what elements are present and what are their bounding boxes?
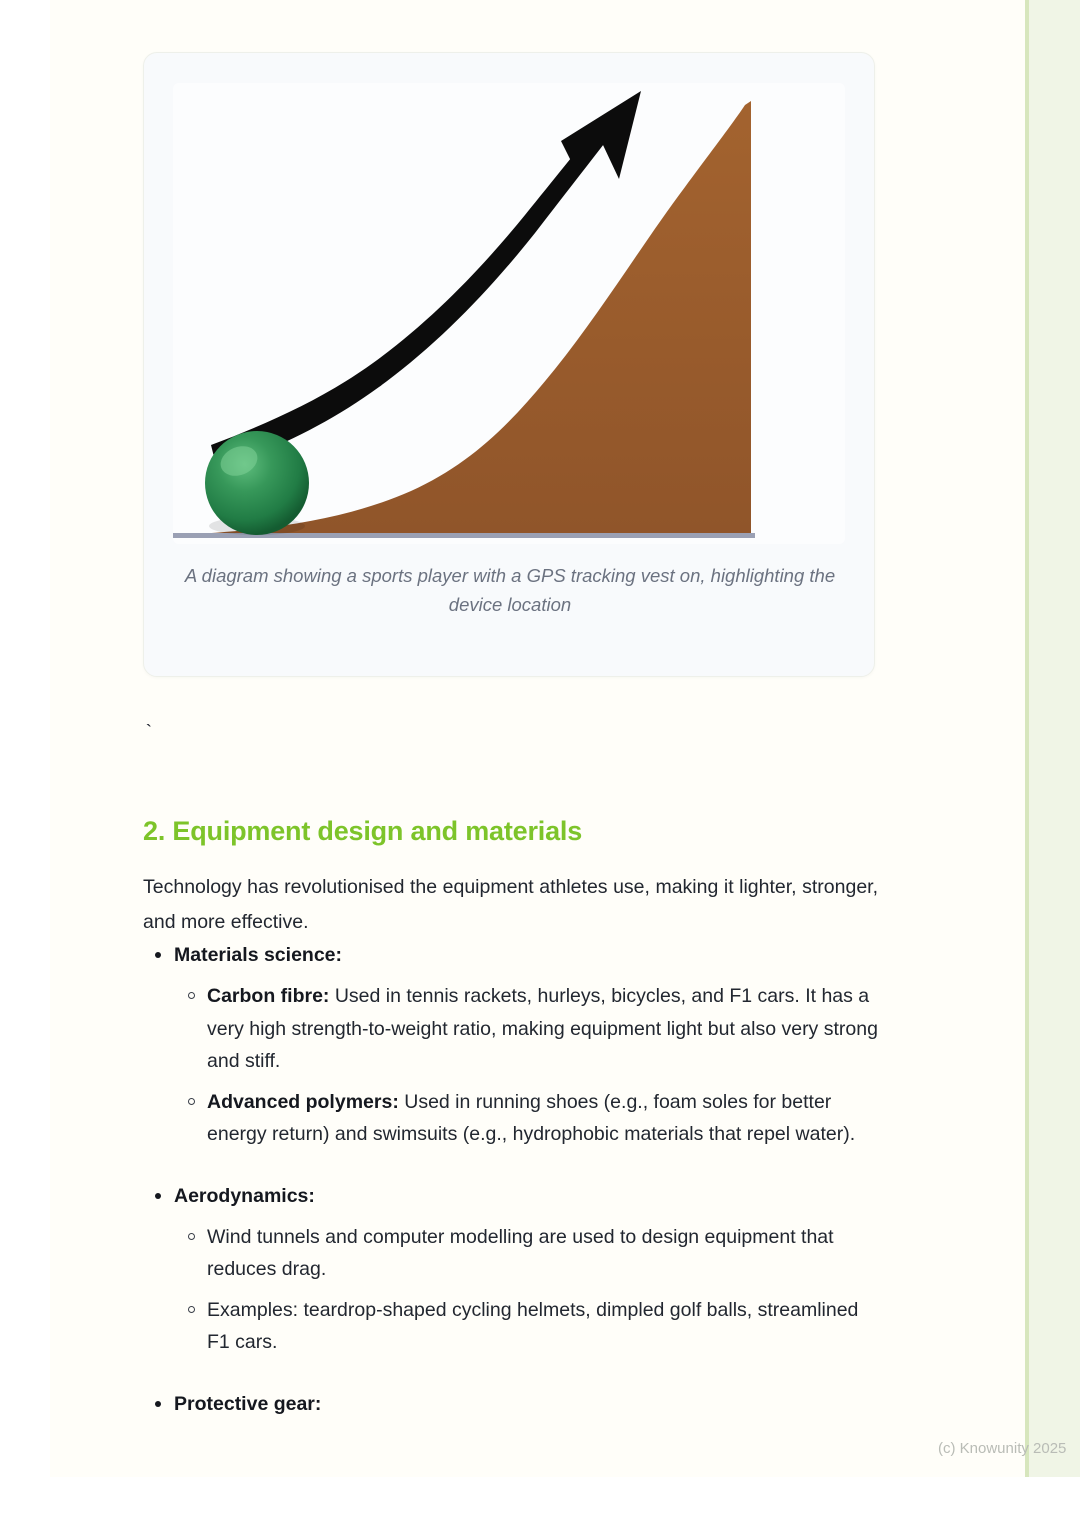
list-item: Aerodynamics: Wind tunnels and computer …: [143, 1179, 883, 1359]
outline-top-level-row: Materials science:: [143, 938, 883, 972]
outline-top-level-row: Protective gear:: [143, 1387, 883, 1421]
list-group-spacer: [143, 1361, 883, 1387]
right-accent-strip: [1025, 0, 1080, 1477]
outline-list: Materials science: Carbon fibre: Used in…: [143, 938, 883, 1423]
list-item: Carbon fibre: Used in tennis rackets, hu…: [143, 980, 883, 1078]
bullet-disc-icon: [155, 1193, 161, 1199]
bullet-circle-icon: [188, 1306, 195, 1313]
stray-backtick-text: `: [143, 718, 154, 748]
outline-top-level-label: Protective gear:: [174, 1393, 321, 1415]
bullet-circle-icon: [188, 1098, 195, 1105]
list-item: Protective gear:: [143, 1387, 883, 1421]
figure-caption: A diagram showing a sports player with a…: [174, 561, 846, 619]
section-heading: 2. Equipment design and materials: [143, 812, 582, 850]
outline-top-level-label: Aerodynamics:: [174, 1185, 315, 1207]
outline-sublist: Carbon fibre: Used in tennis rackets, hu…: [143, 980, 883, 1151]
bullet-circle-icon: [188, 1233, 195, 1240]
list-item: Advanced polymers: Used in running shoes…: [143, 1086, 883, 1151]
outline-sublist: Wind tunnels and computer modelling are …: [143, 1221, 883, 1359]
outline-top-level-row: Aerodynamics:: [143, 1179, 883, 1213]
list-item: Materials science: Carbon fibre: Used in…: [143, 938, 883, 1151]
outline-sub-text: Wind tunnels and computer modelling are …: [207, 1226, 834, 1281]
list-item: Wind tunnels and computer modelling are …: [143, 1221, 883, 1286]
list-item: Examples: teardrop-shaped cycling helmet…: [143, 1294, 883, 1359]
intro-paragraph: Technology has revolutionised the equipm…: [143, 870, 878, 940]
figure-card: A diagram showing a sports player with a…: [143, 52, 875, 677]
bullet-disc-icon: [155, 952, 161, 958]
outline-sub-lead: Advanced polymers:: [207, 1091, 399, 1113]
footer-copyright: (c) Knowunity 2025: [938, 1438, 1066, 1460]
figure-image-frame: [173, 83, 845, 544]
outline-sub-lead: Carbon fibre:: [207, 985, 329, 1007]
green-ball: [205, 431, 309, 535]
outline-sub-text: Examples: teardrop-shaped cycling helmet…: [207, 1299, 858, 1354]
bullet-disc-icon: [155, 1401, 161, 1407]
bullet-circle-icon: [188, 992, 195, 999]
document-page: A diagram showing a sports player with a…: [50, 0, 1032, 1477]
outline-top-level-label: Materials science:: [174, 944, 342, 966]
list-group-spacer: [143, 1153, 883, 1179]
ball-rolling-up-slope-diagram: [173, 83, 845, 544]
